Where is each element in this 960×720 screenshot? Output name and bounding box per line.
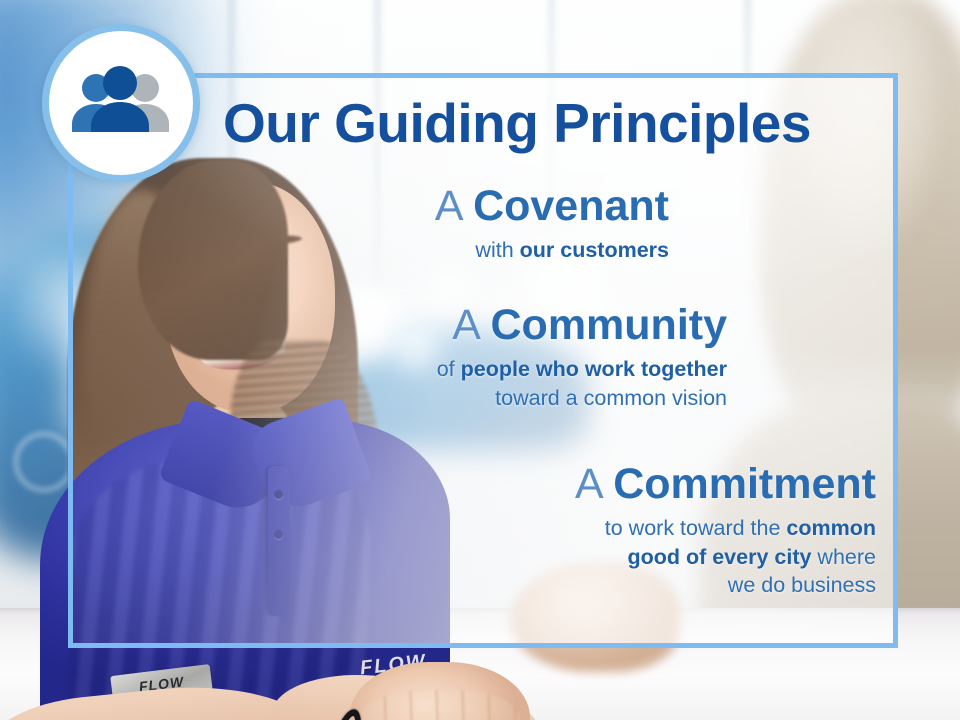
- principle-covenant: A Covenant with our customers: [0, 184, 669, 265]
- principle-article: A: [435, 182, 461, 230]
- subtext-plain: where: [811, 545, 876, 569]
- principle-subtext: with our customers: [0, 236, 669, 264]
- subtext-emphasis: common: [786, 516, 876, 540]
- principle-subtext-line: of people who work together: [0, 355, 727, 383]
- principle-community: A Community of people who work togethert…: [0, 303, 727, 412]
- subtext-plain: we do business: [728, 573, 876, 597]
- subtext-emphasis: people who work together: [461, 357, 727, 381]
- subtext-plain: with: [475, 238, 519, 262]
- principle-article: A: [575, 460, 601, 508]
- principle-subtext-line: with our customers: [0, 236, 669, 264]
- subtext-emphasis: our customers: [520, 238, 669, 262]
- principle-subtext-line: to work toward the common: [0, 514, 876, 542]
- people-group-badge: [42, 24, 200, 182]
- subtext-plain: to work toward the: [605, 516, 787, 540]
- principle-subtext-line: toward a common vision: [0, 384, 727, 412]
- principle-article: A: [452, 301, 478, 349]
- principle-subtext: of people who work togethertoward a comm…: [0, 355, 727, 412]
- principle-subtext: to work toward the commongood of every c…: [0, 514, 876, 599]
- principle-subtext-line: good of every city where: [0, 543, 876, 571]
- subtext-emphasis: good of every city: [627, 545, 811, 569]
- principle-heading: A Community: [0, 303, 727, 348]
- principle-subtext-line: we do business: [0, 571, 876, 599]
- principle-keyword: Community: [491, 301, 728, 349]
- principle-keyword: Commitment: [613, 460, 876, 508]
- guiding-principles-graphic: FLOW AUTOMOTIVE FLOW: [0, 0, 960, 720]
- principle-keyword: Covenant: [473, 182, 669, 230]
- subtext-plain: of: [437, 357, 461, 381]
- principle-heading: A Commitment: [0, 462, 876, 507]
- principle-heading: A Covenant: [0, 184, 669, 229]
- subtext-plain: toward a common vision: [495, 386, 727, 410]
- people-group-icon: [69, 66, 173, 140]
- principle-commitment: A Commitment to work toward the commongo…: [0, 462, 876, 599]
